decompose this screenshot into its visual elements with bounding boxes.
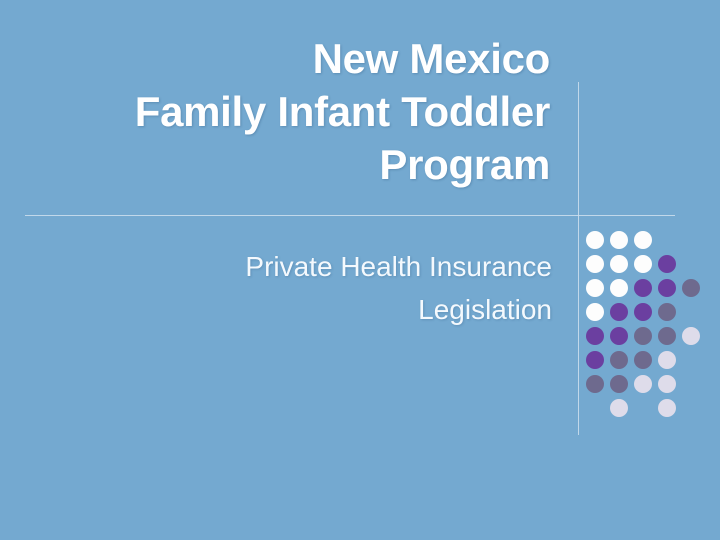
title-line-2: Family Infant Toddler: [30, 85, 550, 138]
dot-gray-purple: [634, 351, 652, 369]
dot-light-lavender: [682, 327, 700, 345]
subtitle-line-1: Private Health Insurance: [60, 245, 552, 288]
dot-purple: [586, 351, 604, 369]
dot-gray-purple: [610, 351, 628, 369]
dot-white: [610, 255, 628, 273]
slide-title: New Mexico Family Infant Toddler Program: [30, 32, 550, 191]
title-line-3: Program: [30, 138, 550, 191]
dot-gray-purple: [634, 327, 652, 345]
dot-purple: [634, 303, 652, 321]
dot-light-lavender: [658, 351, 676, 369]
subtitle-line-2: Legislation: [60, 288, 552, 331]
dot-light-lavender: [610, 399, 628, 417]
dot-gray-purple: [610, 375, 628, 393]
dot-light-lavender: [634, 375, 652, 393]
dot-light-lavender: [658, 375, 676, 393]
slide-subtitle: Private Health Insurance Legislation: [60, 245, 552, 331]
dot-purple: [586, 327, 604, 345]
dot-gray-purple: [586, 375, 604, 393]
dot-white: [586, 255, 604, 273]
dot-white: [586, 231, 604, 249]
dot-light-lavender: [658, 399, 676, 417]
vertical-divider: [578, 82, 579, 435]
decorative-dot-matrix: [586, 231, 708, 416]
dot-gray-purple: [682, 279, 700, 297]
dot-purple: [610, 303, 628, 321]
title-line-1: New Mexico: [30, 32, 550, 85]
dot-purple: [634, 279, 652, 297]
dot-purple: [658, 279, 676, 297]
dot-gray-purple: [658, 303, 676, 321]
dot-white: [586, 279, 604, 297]
dot-gray-purple: [658, 327, 676, 345]
dot-white: [586, 303, 604, 321]
presentation-slide: New Mexico Family Infant Toddler Program…: [0, 0, 720, 540]
dot-white: [634, 231, 652, 249]
dot-purple: [658, 255, 676, 273]
dot-white: [634, 255, 652, 273]
dot-purple: [610, 327, 628, 345]
dot-white: [610, 279, 628, 297]
dot-white: [610, 231, 628, 249]
